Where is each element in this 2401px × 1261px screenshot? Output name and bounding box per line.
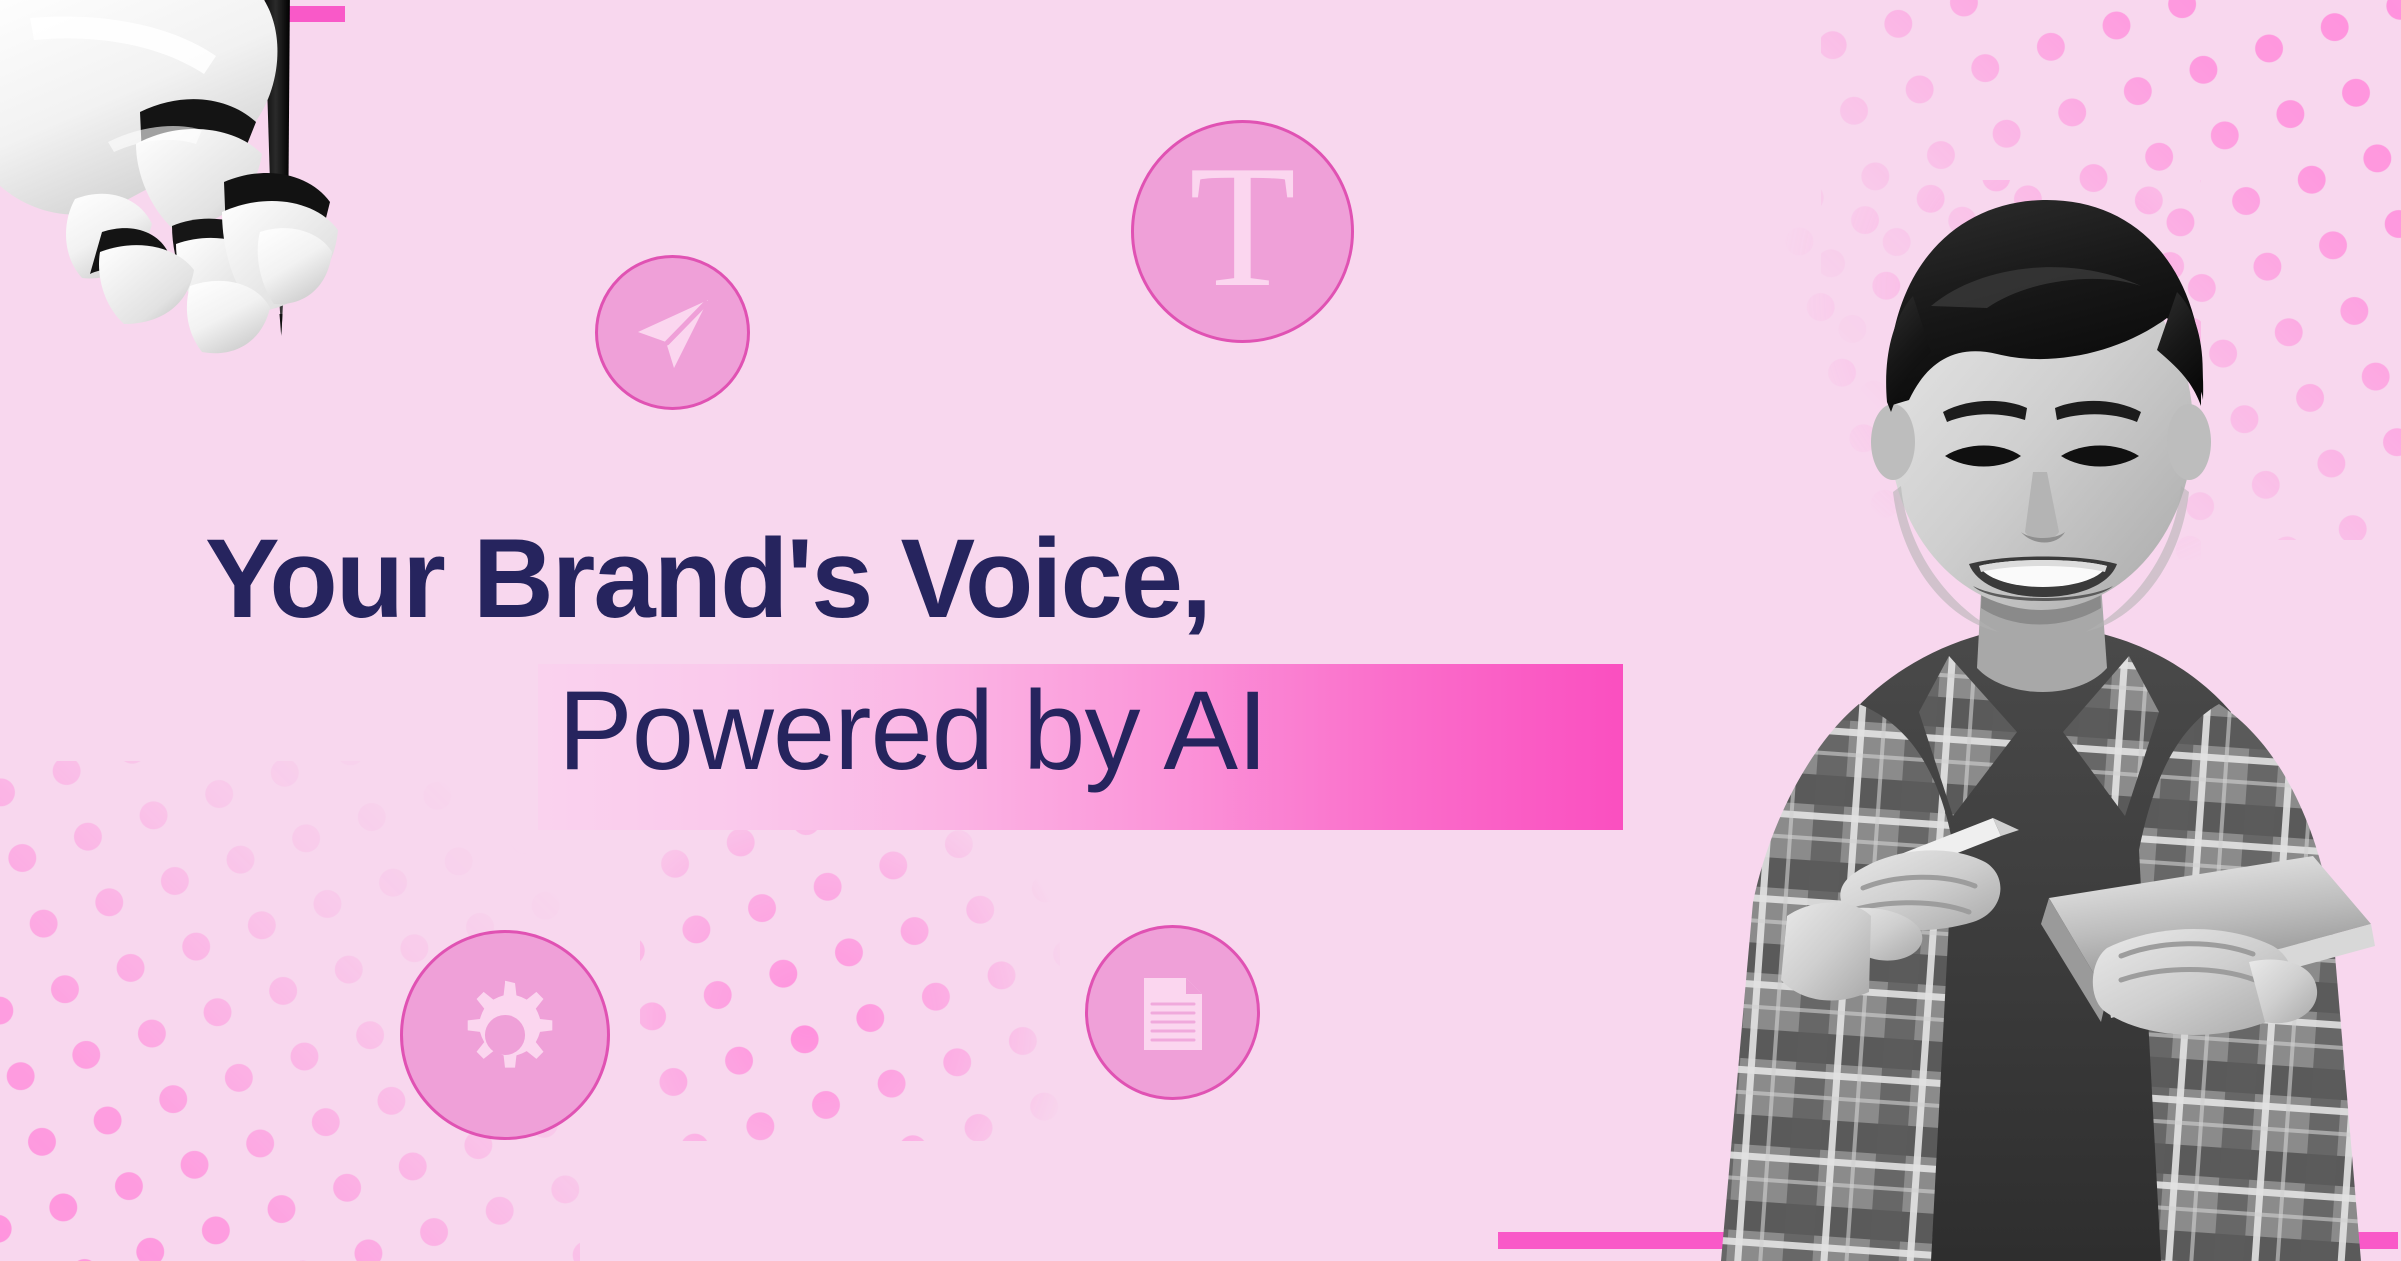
- paper-plane-icon-circle: [595, 255, 750, 410]
- headline-line-1: Your Brand's Voice,: [0, 520, 1700, 638]
- document-icon-circle: [1085, 925, 1260, 1100]
- document-icon: [1132, 972, 1214, 1054]
- robot-hand-holding-pen: [0, 0, 410, 514]
- letter-t-icon-circle: T: [1131, 120, 1354, 343]
- headline-line-2: Powered by AI: [0, 638, 1700, 790]
- paper-plane-icon: [630, 290, 716, 376]
- headline-block: Your Brand's Voice, Powered by AI: [0, 520, 1700, 789]
- person-holding-tablet: [1601, 156, 2401, 1261]
- hero-banner: T Your Brand's Voice,: [0, 0, 2401, 1261]
- letter-t-icon: T: [1189, 139, 1296, 314]
- gear-icon: [446, 976, 564, 1094]
- gear-icon-circle: [400, 930, 610, 1140]
